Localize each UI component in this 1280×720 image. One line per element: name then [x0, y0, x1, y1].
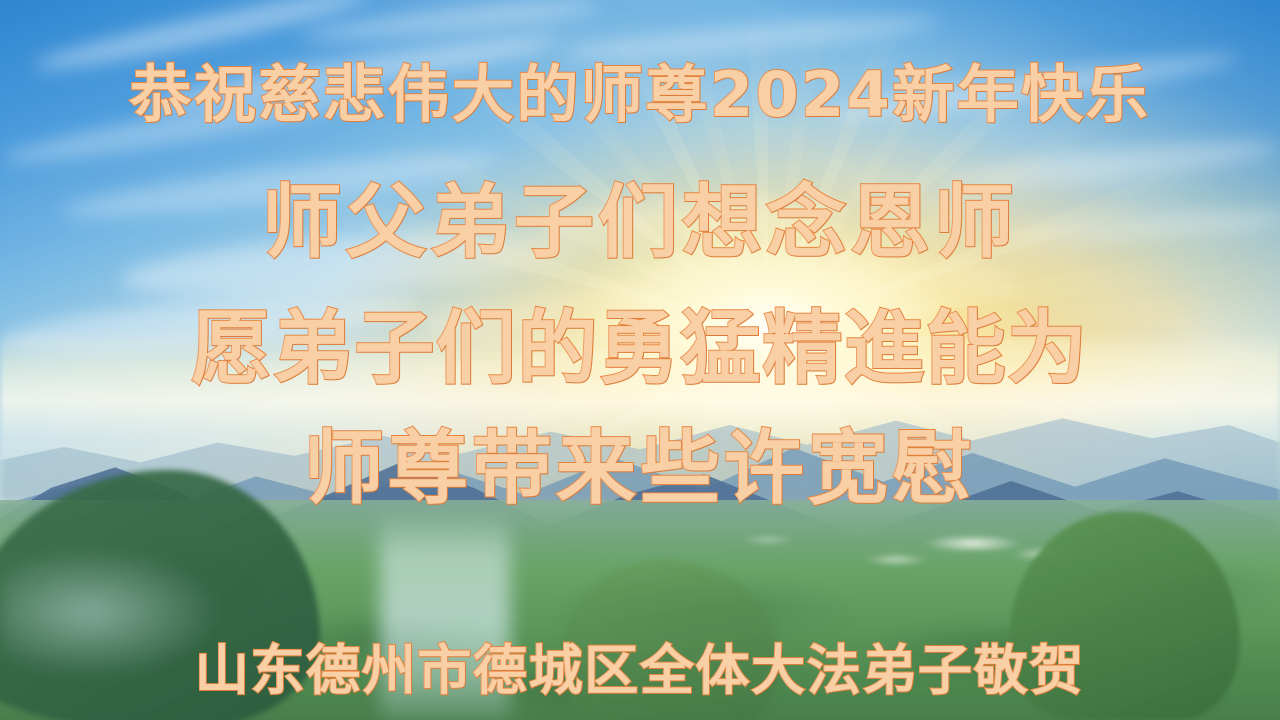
greeting-line-3: 愿弟子们的勇猛精進能为	[0, 284, 1280, 400]
greeting-line-1: 恭祝慈悲伟大的师尊2024新年快乐	[0, 44, 1280, 134]
greeting-line-4: 师尊带来些许宽慰	[0, 404, 1280, 520]
greeting-text-block: 恭祝慈悲伟大的师尊2024新年快乐 师父弟子们想念恩师 愿弟子们的勇猛精進能为 …	[0, 0, 1280, 720]
greeting-card-image: 恭祝慈悲伟大的师尊2024新年快乐 师父弟子们想念恩师 愿弟子们的勇猛精進能为 …	[0, 0, 1280, 720]
greeting-line-2: 师父弟子们想念恩师	[0, 158, 1280, 274]
signature-line: 山东德州市德城区全体大法弟子敬贺	[0, 626, 1280, 705]
